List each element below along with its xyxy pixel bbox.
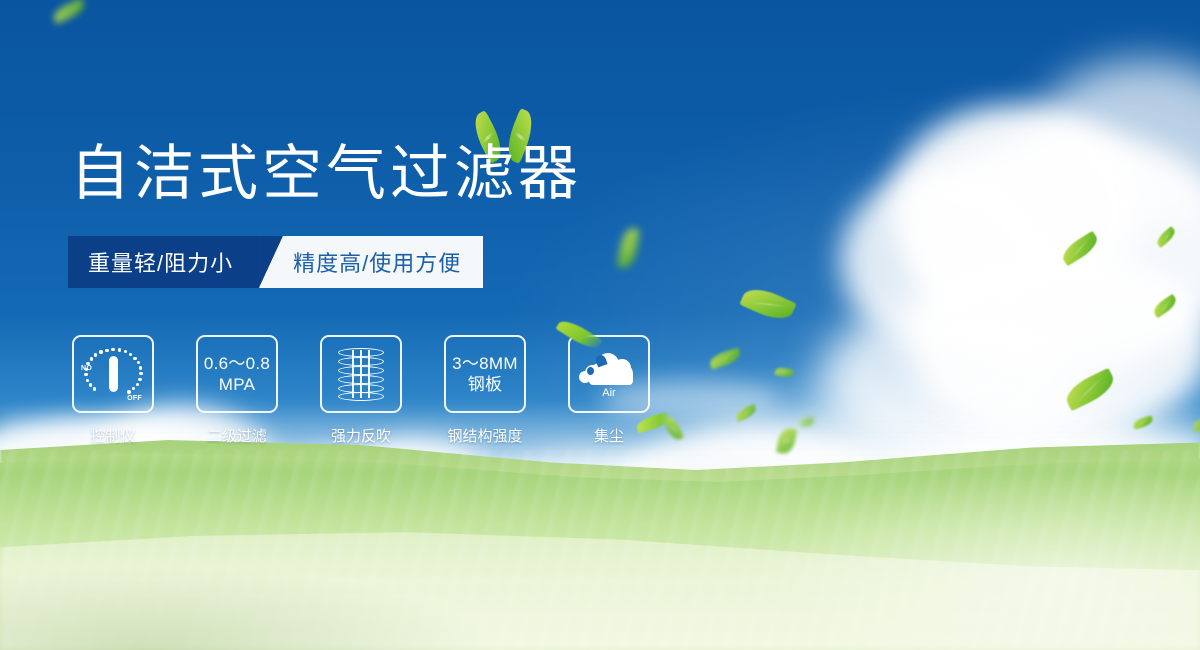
steel-plate-text-icon: 3～8MM 钢板: [452, 353, 518, 395]
feature-item-dust-collection[interactable]: Air 集尘: [568, 335, 650, 446]
air-label: Air: [579, 387, 639, 399]
pressure-text-icon: 0.6～0.8 MPA: [204, 353, 270, 395]
pressure-value: 0.6～0.8: [204, 354, 270, 373]
feature-item-control-panel[interactable]: NO OFF 控制仪: [72, 335, 154, 446]
feature-label: 集尘: [594, 425, 624, 446]
feature-icon-box: [320, 335, 402, 413]
grass-highlight: [580, 460, 1200, 650]
feature-item-two-stage-filter[interactable]: 0.6～0.8 MPA 二级过滤: [196, 335, 278, 446]
steel-thickness: 3～8MM: [452, 354, 518, 373]
feature-label: 钢结构强度: [447, 425, 522, 446]
feature-icon-box: Air: [568, 335, 650, 413]
product-hero-banner: 自洁式空气过滤器 重量轻/阻力小 精度高/使用方便: [0, 0, 1200, 650]
subtitle-divider: [259, 236, 283, 288]
feature-item-pulse-blowback[interactable]: 强力反吹: [320, 335, 402, 446]
dial-gauge-icon: NO OFF: [82, 345, 144, 403]
feature-label: 二级过滤: [207, 425, 267, 446]
subtitle-right-badge: 精度高/使用方便: [283, 236, 483, 288]
steel-material: 钢板: [452, 374, 518, 395]
feature-icon-box: 3～8MM 钢板: [444, 335, 526, 413]
dial-on-label: NO: [81, 365, 92, 372]
feature-icon-box: NO OFF: [72, 335, 154, 413]
feature-label: 控制仪: [90, 425, 135, 446]
subtitle-left-badge: 重量轻/阻力小: [68, 236, 259, 288]
dial-off-label: OFF: [127, 395, 142, 402]
dial-pointer: [109, 356, 118, 392]
coil-filter-icon: [338, 348, 384, 400]
feature-item-steel-strength[interactable]: 3～8MM 钢板 钢结构强度: [444, 335, 526, 446]
subtitle-badge-bar: 重量轻/阻力小 精度高/使用方便: [68, 236, 483, 288]
air-cloud-icon: Air: [579, 351, 639, 397]
feature-icon-box: 0.6～0.8 MPA: [196, 335, 278, 413]
feature-list: NO OFF 控制仪 0.6～0.8 MPA 二级过滤: [72, 335, 650, 446]
feature-label: 强力反吹: [331, 425, 391, 446]
page-title: 自洁式空气过滤器: [70, 140, 582, 208]
pressure-unit: MPA: [204, 374, 270, 395]
